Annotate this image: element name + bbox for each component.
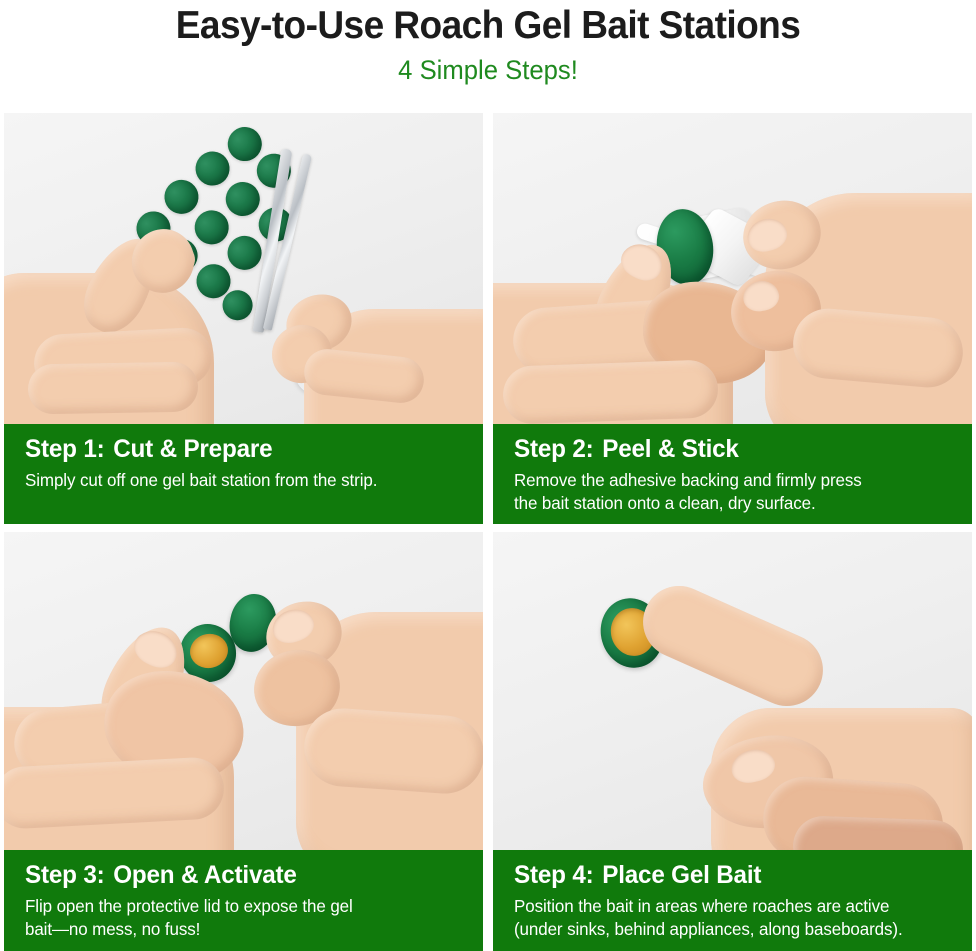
header: Easy-to-Use Roach Gel Bait Stations 4 Si… xyxy=(0,0,976,110)
scene-place-gel-bait xyxy=(493,532,972,850)
step-2-heading: Step 2:Peel & Stick xyxy=(514,436,939,462)
step-3-number: Step 3: xyxy=(25,861,104,889)
step-4-description: Position the bait in areas where roaches… xyxy=(514,888,939,940)
step-1-caption: Step 1:Cut & Prepare Simply cut off one … xyxy=(4,424,483,524)
step-1-number: Step 1: xyxy=(25,435,104,463)
step-4-heading: Step 4:Place Gel Bait xyxy=(514,862,939,888)
scene-open-and-activate xyxy=(4,532,483,850)
step-2-photo xyxy=(493,113,972,424)
step-panel-4: Step 4:Place Gel Bait Position the bait … xyxy=(493,532,972,951)
step-4-number: Step 4: xyxy=(514,861,593,889)
step-panel-3: Step 3:Open & Activate Flip open the pro… xyxy=(4,532,483,951)
step-2-title: Peel & Stick xyxy=(602,435,739,463)
scene-peel-and-stick xyxy=(493,113,972,424)
scene-cut-and-prepare xyxy=(4,113,483,424)
step-3-caption: Step 3:Open & Activate Flip open the pro… xyxy=(4,850,483,951)
step-3-heading: Step 3:Open & Activate xyxy=(25,862,450,888)
step-2-description: Remove the adhesive backing and firmly p… xyxy=(514,462,939,514)
step-1-heading: Step 1:Cut & Prepare xyxy=(25,436,450,462)
step-1-photo xyxy=(4,113,483,424)
step-3-description: Flip open the protective lid to expose t… xyxy=(25,888,450,940)
step-1-description: Simply cut off one gel bait station from… xyxy=(25,462,450,491)
step-2-caption: Step 2:Peel & Stick Remove the adhesive … xyxy=(493,424,972,524)
step-4-caption: Step 4:Place Gel Bait Position the bait … xyxy=(493,850,972,951)
step-3-title: Open & Activate xyxy=(113,861,297,889)
step-1-title: Cut & Prepare xyxy=(113,435,272,463)
steps-grid: Step 1:Cut & Prepare Simply cut off one … xyxy=(4,113,972,951)
step-panel-1: Step 1:Cut & Prepare Simply cut off one … xyxy=(4,113,483,524)
page-title: Easy-to-Use Roach Gel Bait Stations xyxy=(24,0,951,45)
step-panel-2: Step 2:Peel & Stick Remove the adhesive … xyxy=(493,113,972,524)
page-subtitle: 4 Simple Steps! xyxy=(24,45,951,84)
step-2-number: Step 2: xyxy=(514,435,593,463)
infographic-page: Easy-to-Use Roach Gel Bait Stations 4 Si… xyxy=(0,0,976,951)
step-3-photo xyxy=(4,532,483,850)
step-4-title: Place Gel Bait xyxy=(602,861,761,889)
step-4-photo xyxy=(493,532,972,850)
